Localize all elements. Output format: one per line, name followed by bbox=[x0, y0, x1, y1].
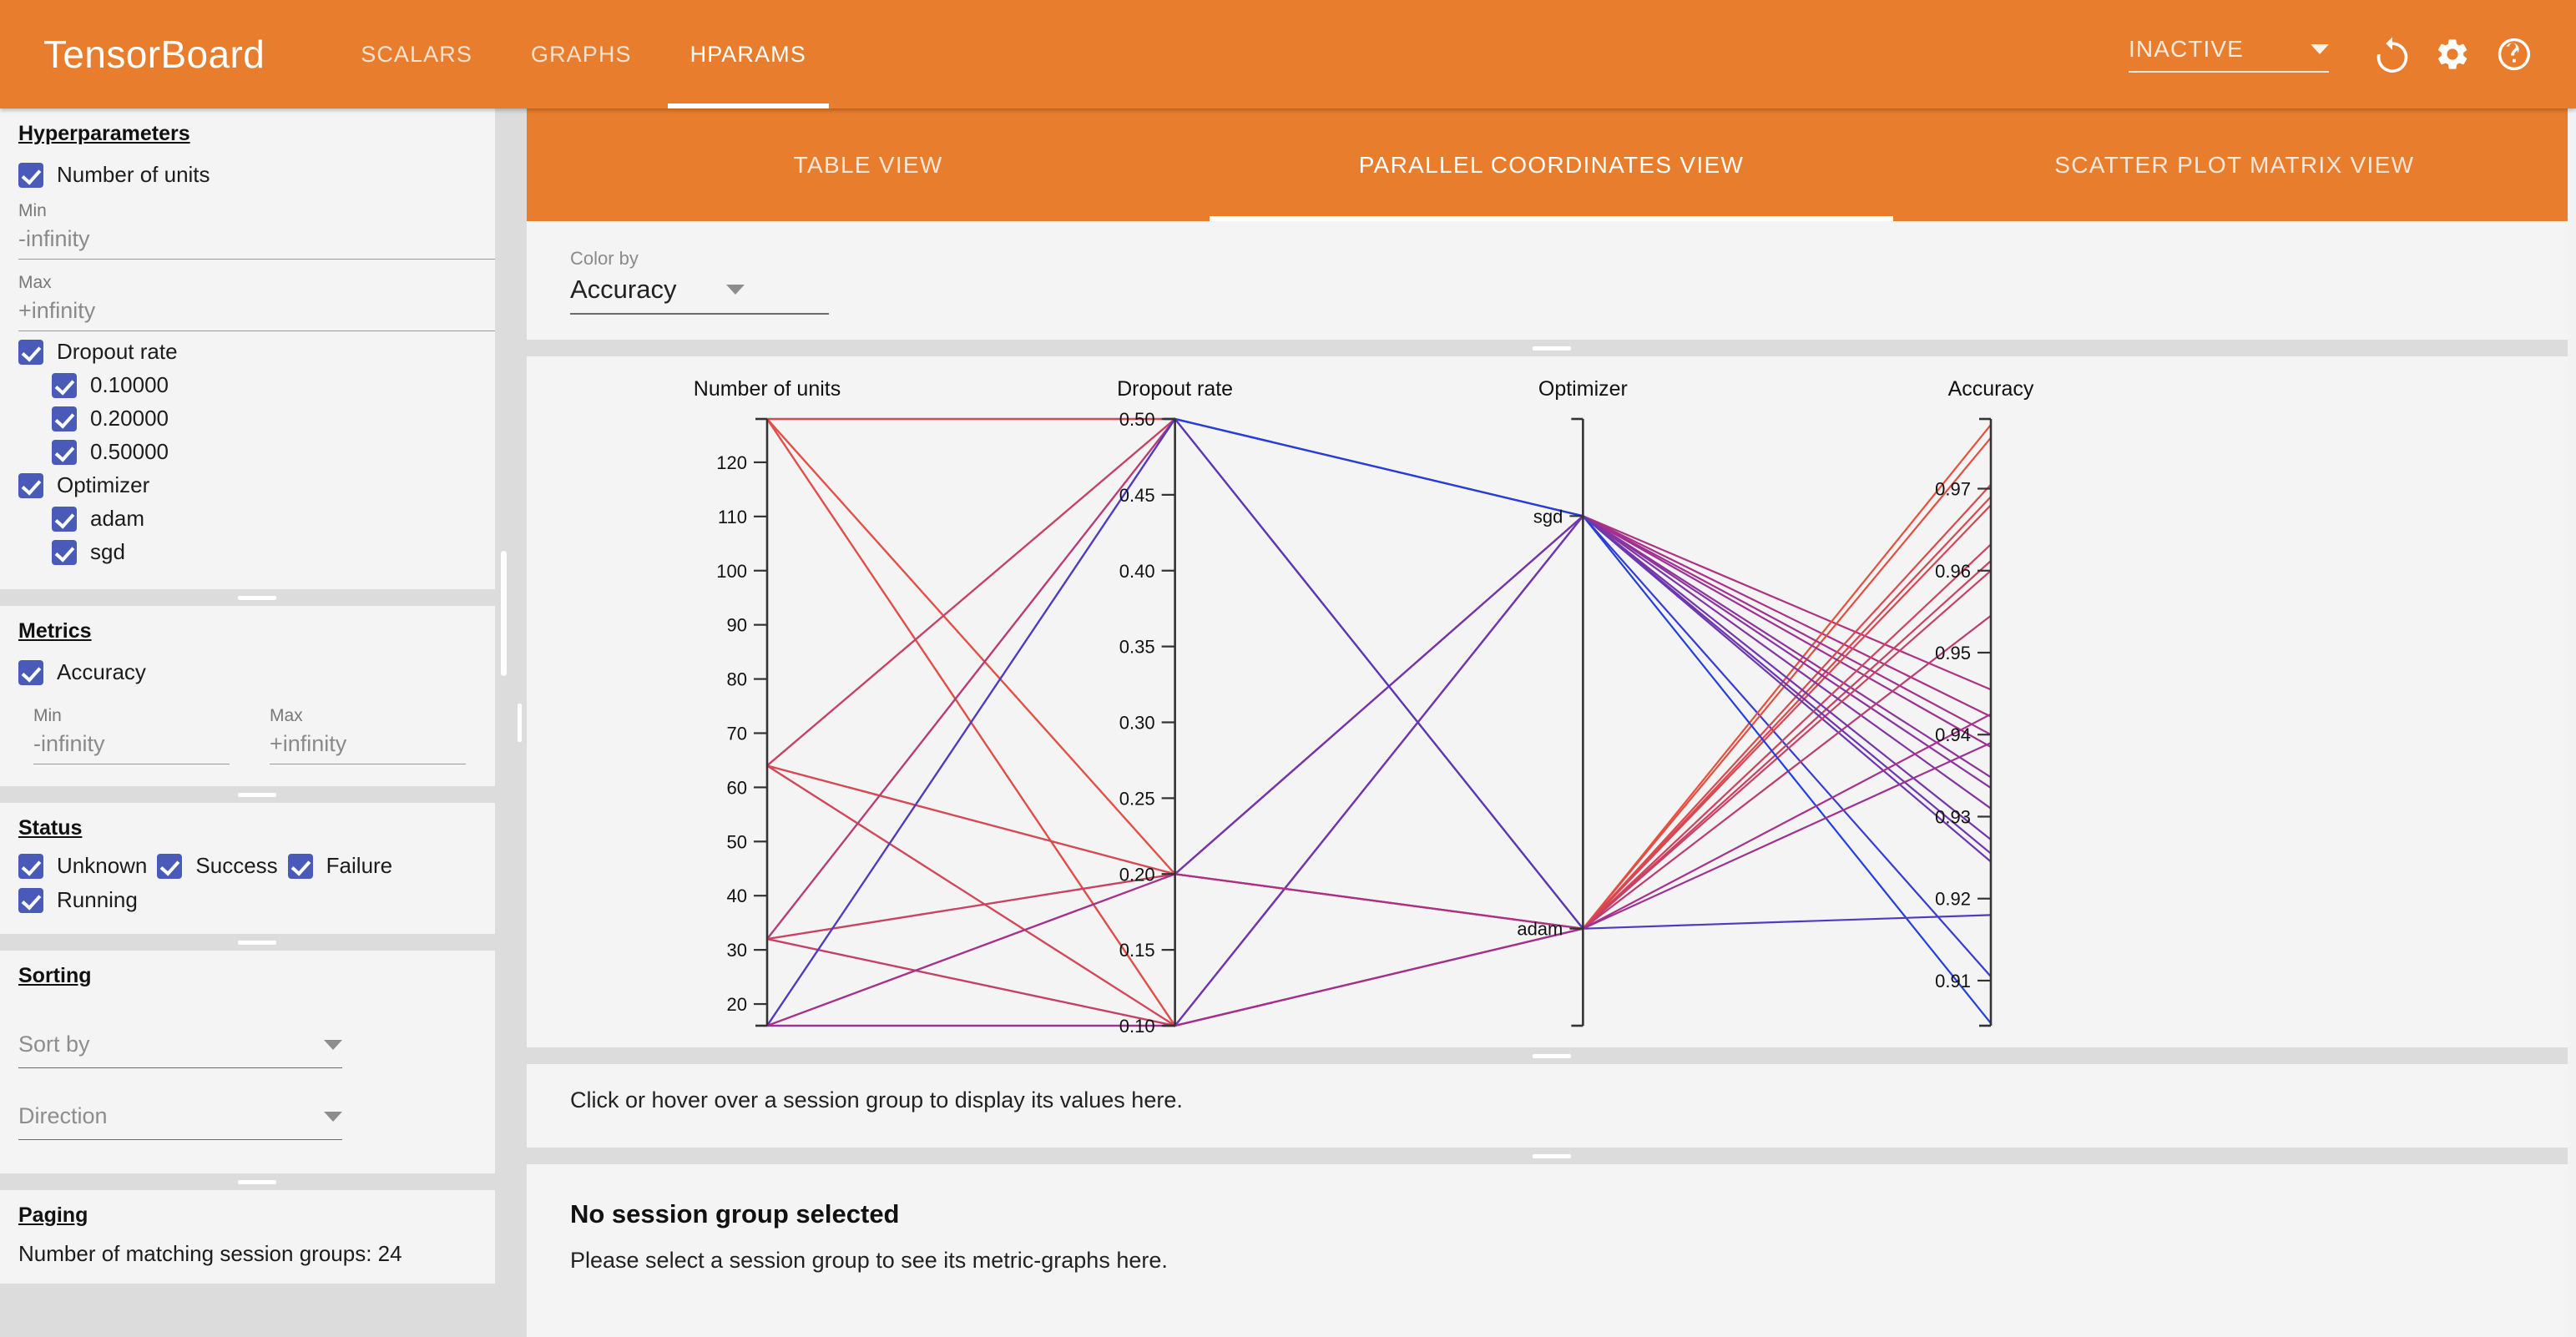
accuracy-max-label: Max bbox=[270, 706, 466, 726]
status-failure-label: Failure bbox=[326, 853, 392, 879]
axis-tick-label: 70 bbox=[727, 723, 747, 744]
optimizer-value-label: adam bbox=[90, 506, 144, 532]
axis-tick-label: 0.93 bbox=[1935, 806, 1971, 827]
status-running[interactable]: Running bbox=[18, 887, 148, 913]
axis-tick-label: 120 bbox=[716, 452, 747, 473]
checkbox-accuracy[interactable] bbox=[18, 660, 43, 685]
refresh-button[interactable] bbox=[2362, 24, 2422, 84]
hparam-number-of-units-label: Number of units bbox=[57, 162, 210, 188]
nav-tab-hparams[interactable]: HPARAMS bbox=[661, 0, 836, 108]
axis-tick-label: 0.50 bbox=[1119, 409, 1155, 430]
axis-tick-label: 0.30 bbox=[1119, 713, 1155, 734]
help-icon bbox=[2493, 35, 2532, 73]
color-by-label: Color by bbox=[570, 248, 829, 270]
sidebar-scrollbar[interactable] bbox=[495, 108, 513, 1337]
sidebar-resize-handle-2[interactable] bbox=[0, 786, 513, 803]
session-line[interactable] bbox=[767, 419, 1991, 874]
session-line[interactable] bbox=[767, 419, 1991, 939]
status-unknown[interactable]: Unknown bbox=[18, 853, 157, 879]
hparam-dropout-rate[interactable]: Dropout rate bbox=[18, 339, 495, 365]
axis-tick-label: 0.20 bbox=[1119, 864, 1155, 885]
chart-resize-handle-bottom[interactable] bbox=[527, 1047, 2576, 1064]
tab-parallel-coordinates-view[interactable]: PARALLEL COORDINATES VIEW bbox=[1210, 108, 1892, 221]
axis-0: Number of units2030405060708090100110120 bbox=[694, 377, 841, 1026]
status-running-label: Running bbox=[57, 887, 138, 913]
app-title: TensorBoard bbox=[43, 32, 265, 77]
axis-tick-label: 0.45 bbox=[1119, 485, 1155, 506]
checkbox-number-of-units[interactable] bbox=[18, 163, 43, 188]
nav-tab-scalars-label: SCALARS bbox=[361, 42, 472, 68]
axis-title: Optimizer bbox=[1538, 377, 1628, 401]
axis-tick-label: 60 bbox=[727, 777, 747, 798]
direction-select[interactable]: Direction bbox=[18, 1103, 342, 1140]
axis-tick-label: 0.91 bbox=[1935, 971, 1971, 991]
units-min-input[interactable]: -infinity bbox=[18, 226, 495, 260]
axis-tick-label: 0.96 bbox=[1935, 561, 1971, 582]
axis-tick-label: 0.15 bbox=[1119, 940, 1155, 961]
tab-parallel-coordinates-view-label: PARALLEL COORDINATES VIEW bbox=[1359, 152, 1744, 179]
sorting-title: Sorting bbox=[18, 964, 92, 988]
accuracy-max-input[interactable]: +infinity bbox=[270, 731, 466, 764]
session-line[interactable] bbox=[767, 743, 1991, 1026]
axis-tick-label: 0.97 bbox=[1935, 479, 1971, 500]
accuracy-max-field[interactable]: Max +infinity bbox=[270, 706, 466, 764]
hparam-optimizer[interactable]: Optimizer bbox=[18, 472, 495, 498]
dropout-value-item[interactable]: 0.20000 bbox=[52, 406, 495, 431]
main-content: TABLE VIEW PARALLEL COORDINATES VIEW SCA… bbox=[527, 108, 2576, 1337]
checkbox-status-success[interactable] bbox=[157, 854, 182, 879]
reload-mode-value: INACTIVE bbox=[2129, 36, 2244, 63]
reload-mode-select[interactable]: INACTIVE bbox=[2129, 36, 2329, 73]
color-by-select[interactable]: Accuracy bbox=[570, 275, 829, 315]
axis-tick-label: 0.92 bbox=[1935, 889, 1971, 910]
session-line[interactable] bbox=[767, 714, 1991, 1026]
session-line[interactable] bbox=[767, 505, 1991, 1026]
primary-nav: SCALARS GRAPHS HPARAMS bbox=[331, 0, 836, 108]
chart-lines bbox=[767, 419, 1991, 1026]
session-line[interactable] bbox=[767, 419, 1991, 939]
nav-tab-graphs[interactable]: GRAPHS bbox=[502, 0, 661, 108]
sort-by-select[interactable]: Sort by bbox=[18, 1032, 342, 1068]
tab-table-view[interactable]: TABLE VIEW bbox=[527, 108, 1210, 221]
metrics-title: Metrics bbox=[18, 619, 92, 643]
tensorboard-app: TensorBoard SCALARS GRAPHS HPARAMS INACT… bbox=[0, 0, 2576, 1337]
dropout-value-item[interactable]: 0.50000 bbox=[52, 439, 495, 465]
tab-table-view-label: TABLE VIEW bbox=[794, 152, 943, 179]
sorting-card: Sorting Sort by Direction bbox=[0, 951, 513, 1173]
units-max-field[interactable]: Max +infinity bbox=[18, 273, 495, 331]
color-by-control[interactable]: Color by Accuracy bbox=[570, 248, 829, 315]
help-button[interactable] bbox=[2483, 24, 2543, 84]
axis-tick-label: 40 bbox=[727, 885, 747, 906]
gear-icon bbox=[2434, 36, 2471, 73]
metric-accuracy-label: Accuracy bbox=[57, 659, 146, 685]
axis-tick-label: 50 bbox=[727, 831, 747, 852]
axis-tick-label: 0.94 bbox=[1935, 724, 1971, 745]
settings-button[interactable] bbox=[2422, 24, 2483, 84]
checkbox-optimizer[interactable] bbox=[18, 473, 43, 498]
metric-accuracy[interactable]: Accuracy bbox=[18, 659, 495, 685]
dropout-value-item[interactable]: 0.10000 bbox=[52, 372, 495, 398]
session-resize-handle[interactable] bbox=[527, 1148, 2576, 1164]
axis-1: Dropout rate0.100.150.200.250.300.350.40… bbox=[1117, 377, 1233, 1037]
axis-tick-label: 30 bbox=[727, 940, 747, 961]
axis-tick-label: 80 bbox=[727, 669, 747, 690]
chevron-down-icon bbox=[726, 285, 745, 295]
accuracy-min-label: Min bbox=[33, 706, 230, 726]
axis-tick-label: adam bbox=[1517, 919, 1563, 940]
checkbox-status-unknown[interactable] bbox=[18, 854, 43, 879]
checkbox-dropout-0.10000[interactable] bbox=[52, 373, 77, 398]
axis-title: Dropout rate bbox=[1117, 377, 1233, 401]
nav-tab-graphs-label: GRAPHS bbox=[531, 42, 632, 68]
axis-tick-label: 0.10 bbox=[1119, 1016, 1155, 1037]
session-group-panel: No session group selected Please select … bbox=[527, 1164, 2576, 1337]
session-group-subtitle: Please select a session group to see its… bbox=[570, 1248, 2533, 1274]
chevron-down-icon bbox=[2311, 44, 2329, 54]
color-by-toolbar: Color by Accuracy bbox=[527, 221, 2576, 340]
axis-tick-label: 90 bbox=[727, 615, 747, 636]
units-max-input[interactable]: +infinity bbox=[18, 298, 495, 331]
accuracy-min-field[interactable]: Min -infinity bbox=[33, 706, 230, 764]
status-checkbox-group: Unknown Success Failure Running bbox=[18, 849, 495, 917]
tab-scatter-plot-matrix-view-label: SCATTER PLOT MATRIX VIEW bbox=[2054, 152, 2414, 179]
color-by-value: Accuracy bbox=[570, 275, 676, 305]
axis-tick-label: 110 bbox=[718, 507, 747, 527]
checkbox-optimizer-adam[interactable] bbox=[52, 507, 77, 532]
session-line[interactable] bbox=[767, 419, 1991, 777]
axis-tick-label: 0.95 bbox=[1935, 643, 1971, 663]
checkbox-dropout-rate[interactable] bbox=[18, 340, 43, 365]
status-title: Status bbox=[18, 816, 82, 840]
matching-session-groups-count: Number of matching session groups: 24 bbox=[18, 1241, 495, 1267]
session-values-panel: Click or hover over a session group to d… bbox=[527, 1064, 2576, 1148]
nav-tab-scalars[interactable]: SCALARS bbox=[331, 0, 502, 108]
status-unknown-label: Unknown bbox=[57, 853, 147, 879]
units-max-label: Max bbox=[18, 273, 495, 293]
status-success[interactable]: Success bbox=[157, 853, 287, 879]
sidebar-resize-handle-1[interactable] bbox=[0, 589, 513, 606]
sidebar-resize-handle-4[interactable] bbox=[0, 1173, 513, 1190]
sidebar-scrollbar-thumb[interactable] bbox=[501, 551, 507, 676]
checkbox-dropout-0.50000[interactable] bbox=[52, 440, 77, 465]
session-line[interactable] bbox=[767, 419, 1991, 976]
axis-tick-label: 0.35 bbox=[1119, 637, 1155, 658]
status-failure[interactable]: Failure bbox=[288, 853, 402, 879]
axis-tick-label: 0.40 bbox=[1119, 561, 1155, 582]
sort-by-value: Sort by bbox=[18, 1032, 90, 1057]
checkbox-status-failure[interactable] bbox=[288, 854, 313, 879]
session-line[interactable] bbox=[767, 544, 1991, 939]
optimizer-value-label: sgd bbox=[90, 539, 125, 565]
direction-value: Direction bbox=[18, 1103, 108, 1129]
axis-title: Accuracy bbox=[1948, 377, 2034, 401]
hyperparameters-card: Hyperparameters Number of units Min -inf… bbox=[0, 108, 513, 589]
hparam-number-of-units[interactable]: Number of units bbox=[18, 162, 495, 188]
parallel-coordinates-chart[interactable]: Number of units2030405060708090100110120… bbox=[527, 356, 2576, 1047]
session-line[interactable] bbox=[767, 516, 1991, 1026]
tab-scatter-plot-matrix-view[interactable]: SCATTER PLOT MATRIX VIEW bbox=[1893, 108, 2576, 221]
status-card: Status Unknown Success Failure bbox=[0, 803, 513, 934]
hover-hint-text: Click or hover over a session group to d… bbox=[570, 1087, 2533, 1113]
axis-title: Number of units bbox=[694, 377, 841, 401]
hparam-dropout-rate-label: Dropout rate bbox=[57, 339, 178, 365]
checkbox-dropout-0.20000[interactable] bbox=[52, 406, 77, 431]
metrics-card: Metrics Accuracy Min -infinity Max +infi… bbox=[0, 606, 513, 786]
paging-card: Paging Number of matching session groups… bbox=[0, 1190, 513, 1284]
axis-tick-label: 0.25 bbox=[1119, 788, 1155, 809]
session-line[interactable] bbox=[767, 419, 1991, 1026]
session-line[interactable] bbox=[767, 419, 1991, 1026]
chart-resize-handle-top[interactable] bbox=[527, 340, 2576, 356]
session-line[interactable] bbox=[767, 419, 1991, 1026]
hparam-optimizer-label: Optimizer bbox=[57, 472, 149, 498]
paging-title: Paging bbox=[18, 1203, 88, 1228]
status-success-label: Success bbox=[195, 853, 277, 879]
left-sidebar[interactable]: Hyperparameters Number of units Min -inf… bbox=[0, 108, 513, 1337]
app-header: TensorBoard SCALARS GRAPHS HPARAMS INACT… bbox=[0, 0, 2576, 108]
session-group-title: No session group selected bbox=[570, 1199, 2533, 1229]
header-actions: INACTIVE bbox=[2129, 24, 2576, 84]
optimizer-value-item[interactable]: sgd bbox=[52, 539, 495, 565]
units-min-field[interactable]: Min -infinity bbox=[18, 201, 495, 260]
view-tabs: TABLE VIEW PARALLEL COORDINATES VIEW SCA… bbox=[527, 108, 2576, 221]
axis-tick-label: 20 bbox=[727, 994, 747, 1015]
nav-tab-hparams-label: HPARAMS bbox=[690, 42, 806, 68]
dropout-value-label: 0.20000 bbox=[90, 406, 169, 431]
chevron-down-icon bbox=[324, 1112, 342, 1122]
dropout-value-label: 0.50000 bbox=[90, 439, 169, 465]
refresh-icon bbox=[2374, 36, 2411, 73]
main-scrollbar[interactable] bbox=[2568, 108, 2576, 1337]
accuracy-min-input[interactable]: -infinity bbox=[33, 731, 230, 764]
parallel-coordinates-svg[interactable]: Number of units2030405060708090100110120… bbox=[527, 356, 2576, 1047]
checkbox-status-running[interactable] bbox=[18, 888, 43, 913]
dropout-value-label: 0.10000 bbox=[90, 372, 169, 398]
session-line[interactable] bbox=[767, 419, 1991, 1026]
units-min-label: Min bbox=[18, 201, 495, 221]
sidebar-main-splitter[interactable] bbox=[513, 108, 527, 1337]
axis-tick-label: sgd bbox=[1533, 506, 1563, 527]
sidebar-resize-handle-3[interactable] bbox=[0, 934, 513, 951]
axis-tick-label: 100 bbox=[716, 561, 747, 582]
chevron-down-icon bbox=[324, 1040, 342, 1050]
hyperparameters-title: Hyperparameters bbox=[18, 122, 190, 146]
checkbox-optimizer-sgd[interactable] bbox=[52, 540, 77, 565]
optimizer-value-item[interactable]: adam bbox=[52, 506, 495, 532]
